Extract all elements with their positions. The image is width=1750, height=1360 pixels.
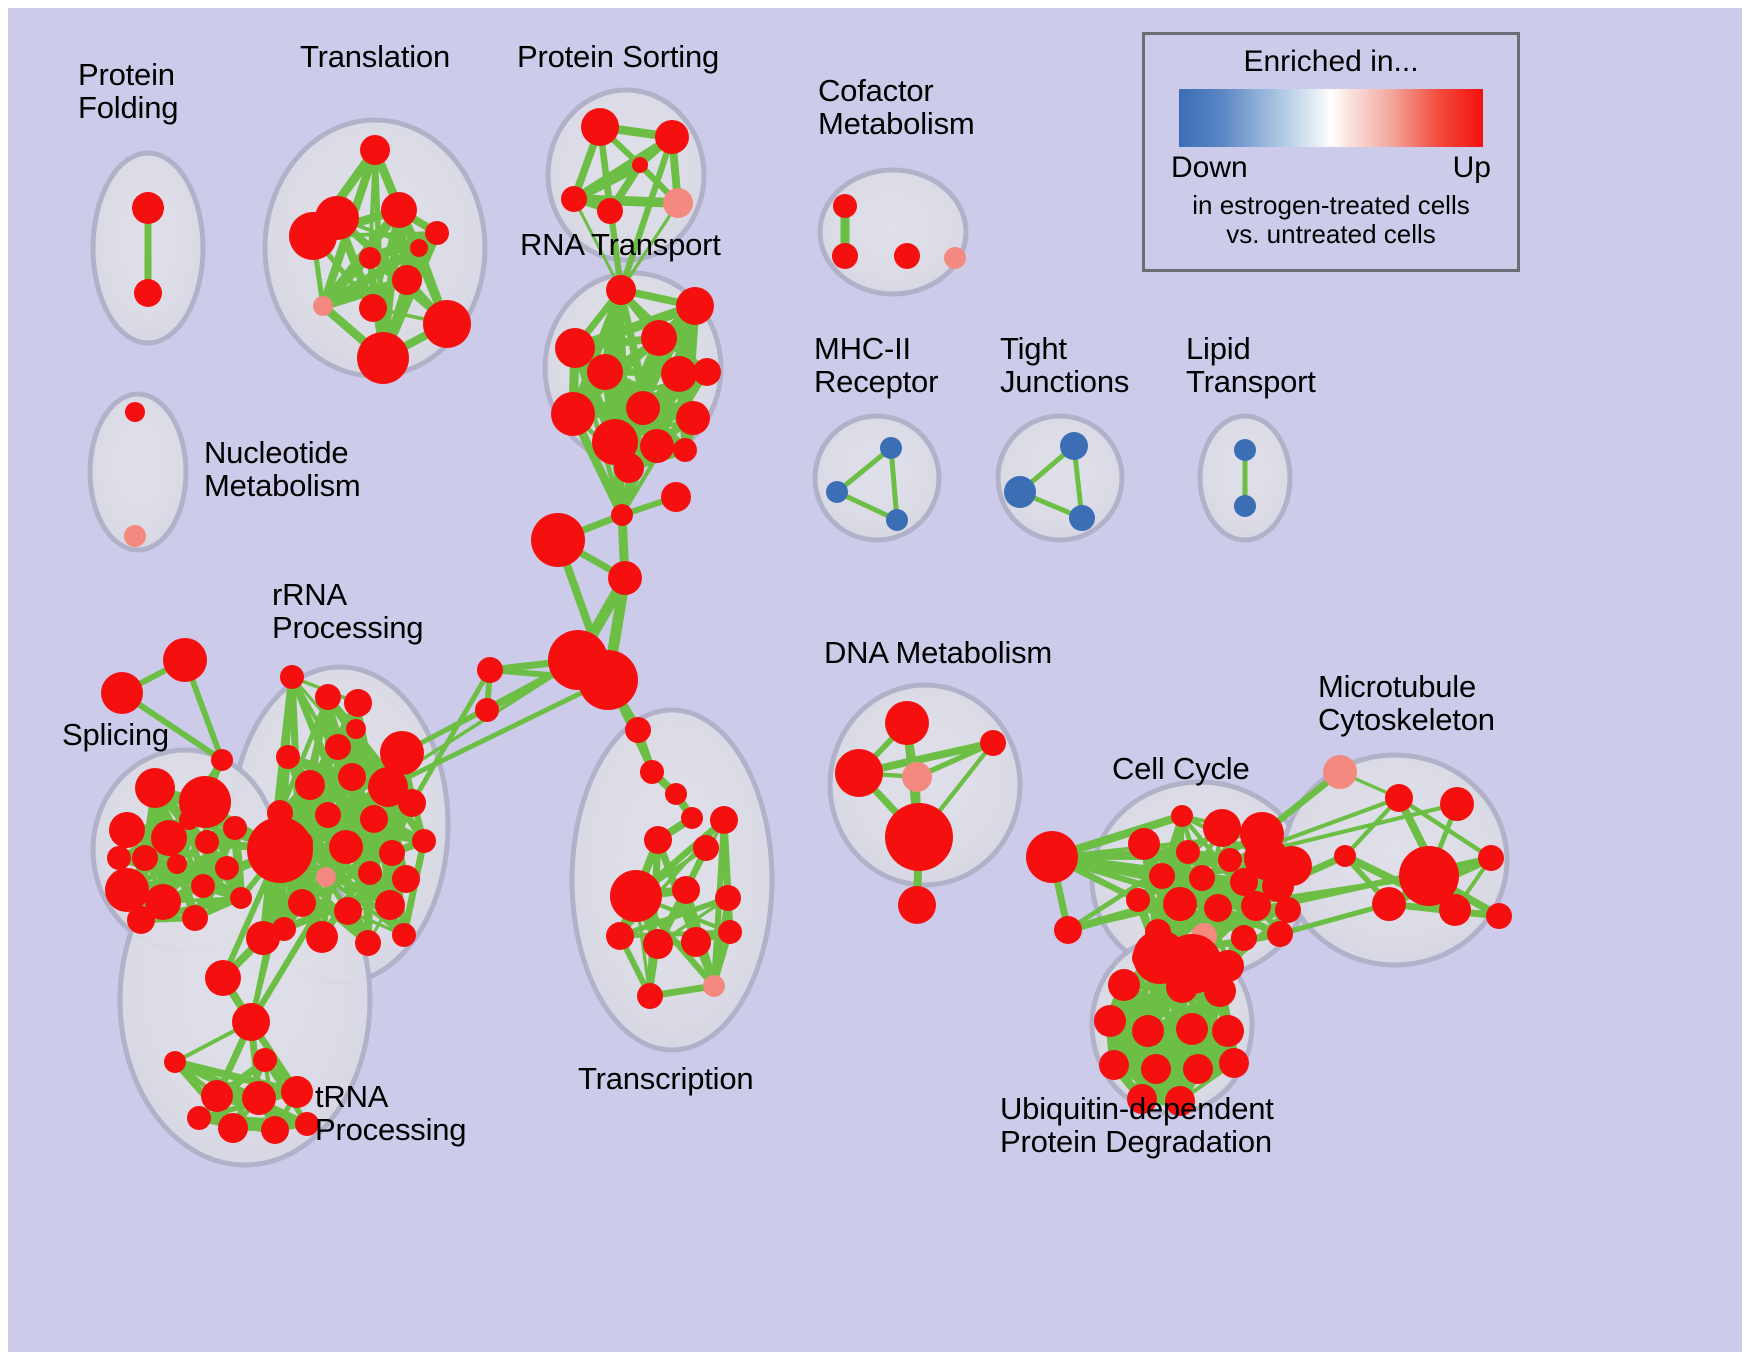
network-node	[581, 108, 619, 146]
network-node	[531, 513, 585, 567]
network-node	[632, 157, 648, 173]
network-node	[134, 279, 162, 307]
network-node	[1171, 805, 1193, 827]
network-node	[673, 438, 697, 462]
network-node	[360, 805, 388, 833]
network-node	[316, 867, 336, 887]
network-node	[242, 1081, 276, 1115]
network-node	[101, 672, 143, 714]
network-node	[703, 975, 725, 997]
figure-canvas: Protein FoldingTranslationProtein Sortin…	[0, 0, 1750, 1360]
legend-subtitle-line1: in estrogen-treated cells	[1165, 191, 1497, 220]
network-node	[201, 1080, 233, 1112]
network-node	[191, 874, 215, 898]
network-node	[109, 812, 145, 848]
network-node	[625, 717, 651, 743]
network-node	[289, 212, 337, 260]
network-node	[555, 328, 595, 368]
network-node	[1439, 894, 1471, 926]
cluster-label-rna-transport: RNA Transport	[520, 228, 721, 261]
network-node	[127, 906, 155, 934]
cluster-label-trna-processing: tRNA Processing	[315, 1080, 466, 1147]
network-node	[626, 391, 660, 425]
network-node	[606, 922, 634, 950]
network-node	[379, 840, 405, 866]
network-node	[179, 810, 199, 830]
network-node	[606, 275, 636, 305]
network-node	[276, 745, 300, 769]
cluster-label-cell-cycle: Cell Cycle	[1112, 752, 1250, 785]
network-node	[1060, 432, 1088, 460]
network-node	[230, 887, 252, 909]
network-node	[661, 356, 697, 392]
cluster-label-protein-sorting: Protein Sorting	[517, 40, 719, 73]
network-node	[1126, 888, 1150, 912]
network-node	[1204, 894, 1232, 922]
network-node	[1189, 865, 1215, 891]
network-node	[195, 830, 219, 854]
network-node	[1176, 840, 1200, 864]
network-node	[1141, 1054, 1171, 1084]
network-node	[253, 1048, 277, 1072]
network-node	[381, 192, 417, 228]
network-node	[398, 789, 426, 817]
network-node	[164, 1051, 186, 1073]
network-node	[1204, 975, 1236, 1007]
network-node	[360, 135, 390, 165]
network-node	[676, 401, 710, 435]
network-node	[1054, 916, 1082, 944]
network-node	[218, 1113, 248, 1143]
network-node	[346, 719, 366, 739]
network-node	[329, 830, 363, 864]
network-node	[980, 730, 1006, 756]
network-node	[898, 886, 936, 924]
network-node	[355, 930, 381, 956]
legend-title: Enriched in...	[1165, 45, 1497, 79]
network-node	[132, 845, 158, 871]
network-edge	[574, 199, 678, 203]
network-node	[357, 332, 409, 384]
network-node	[1026, 831, 1078, 883]
network-node	[1132, 1015, 1164, 1047]
cluster-label-dna-metabolism: DNA Metabolism	[824, 636, 1052, 669]
network-node	[551, 392, 595, 436]
network-node	[665, 783, 687, 805]
network-node	[1267, 921, 1293, 947]
network-node	[215, 856, 239, 880]
network-node	[1440, 787, 1474, 821]
network-node	[661, 482, 691, 512]
network-node	[578, 650, 638, 710]
network-node	[640, 760, 664, 784]
network-node	[681, 927, 711, 957]
network-node	[718, 920, 742, 944]
network-node	[1478, 845, 1504, 871]
network-node	[880, 437, 902, 459]
network-node	[107, 846, 131, 870]
network-node	[693, 835, 719, 861]
cluster-label-transcription: Transcription	[578, 1062, 753, 1095]
network-node	[334, 897, 362, 925]
legend-box: Enriched in... Down Up in estrogen-treat…	[1142, 32, 1520, 272]
network-node	[315, 684, 341, 710]
network-node	[1234, 439, 1256, 461]
network-node	[1176, 1013, 1208, 1045]
network-node	[1234, 495, 1256, 517]
network-node	[1372, 887, 1406, 921]
network-node	[338, 763, 366, 791]
legend-high-label: Up	[1453, 151, 1491, 185]
network-node	[211, 749, 233, 771]
network-node	[902, 762, 932, 792]
network-node	[132, 192, 164, 224]
network-node	[325, 734, 351, 760]
network-node	[597, 198, 623, 224]
network-node	[187, 1106, 211, 1130]
network-node	[359, 247, 381, 269]
network-node	[643, 929, 673, 959]
network-node	[232, 1003, 270, 1041]
cluster-label-protein-folding: Protein Folding	[78, 58, 178, 125]
legend-colorbar	[1179, 89, 1483, 147]
network-node	[1094, 1005, 1126, 1037]
network-node	[280, 665, 304, 689]
network-node	[1241, 891, 1271, 921]
network-node	[1149, 863, 1175, 889]
network-node	[1004, 476, 1036, 508]
network-node	[1128, 828, 1160, 860]
network-node	[410, 239, 428, 257]
cluster-label-cofactor: Cofactor Metabolism	[818, 74, 975, 141]
network-node	[375, 890, 405, 920]
network-node	[392, 865, 420, 893]
network-node	[681, 807, 703, 829]
network-node	[359, 294, 387, 322]
network-node	[886, 509, 908, 531]
network-node	[182, 905, 208, 931]
legend-low-label: Down	[1171, 151, 1248, 185]
cluster-hull-mhc-ii	[815, 416, 939, 540]
network-node	[163, 638, 207, 682]
cluster-label-rrna-processing: rRNA Processing	[272, 578, 423, 645]
network-node	[610, 870, 662, 922]
network-node	[167, 854, 187, 874]
network-node	[944, 247, 966, 269]
network-node	[261, 1116, 289, 1144]
network-node	[885, 803, 953, 871]
network-node	[124, 525, 146, 547]
network-node	[295, 770, 325, 800]
network-node	[655, 120, 689, 154]
network-node	[1275, 897, 1301, 923]
network-node	[392, 265, 422, 295]
network-node	[358, 861, 382, 885]
network-node	[477, 657, 503, 683]
network-node	[1334, 845, 1356, 867]
network-node	[833, 194, 857, 218]
legend-subtitle-line2: vs. untreated cells	[1165, 220, 1497, 249]
network-node	[641, 320, 677, 356]
network-node	[425, 221, 449, 245]
network-node	[1323, 755, 1357, 789]
cluster-label-tight-junctions: Tight Junctions	[1000, 332, 1129, 399]
network-node	[614, 453, 644, 483]
network-node	[1219, 1048, 1249, 1078]
network-node	[223, 816, 247, 840]
network-node	[1108, 969, 1140, 1001]
network-node	[894, 243, 920, 269]
cluster-label-mhc-ii: MHC-II Receptor	[814, 332, 938, 399]
network-node	[826, 481, 848, 503]
network-node	[281, 1076, 313, 1108]
network-node	[392, 923, 416, 947]
network-node	[885, 701, 929, 745]
network-node	[611, 504, 633, 526]
network-node	[315, 802, 341, 828]
network-node	[306, 921, 338, 953]
cluster-label-translation: Translation	[300, 40, 450, 73]
network-node	[105, 868, 149, 912]
cluster-label-lipid-transport: Lipid Transport	[1186, 332, 1316, 399]
network-node	[247, 817, 313, 883]
cluster-label-splicing: Splicing	[62, 718, 169, 751]
network-node	[1212, 1015, 1244, 1047]
network-node	[1183, 1054, 1213, 1084]
network-node	[693, 358, 721, 386]
network-node	[125, 402, 145, 422]
network-node	[637, 983, 663, 1009]
network-node	[475, 698, 499, 722]
network-node	[644, 826, 672, 854]
network-node	[715, 885, 741, 911]
network-node	[835, 749, 883, 797]
network-node	[1069, 505, 1095, 531]
network-node	[561, 186, 587, 212]
cluster-label-microtubule: Microtubule Cytoskeleton	[1318, 670, 1495, 737]
network-node	[640, 429, 674, 463]
network-node	[1163, 887, 1197, 921]
network-node	[663, 188, 693, 218]
network-node	[313, 296, 333, 316]
network-node	[587, 354, 623, 390]
network-node	[423, 300, 471, 348]
cluster-label-nucleotide: Nucleotide Metabolism	[204, 436, 361, 503]
network-node	[1486, 903, 1512, 929]
network-node	[832, 243, 858, 269]
network-node	[205, 960, 241, 996]
network-node	[1099, 1050, 1129, 1080]
network-node	[710, 806, 738, 834]
network-node	[672, 876, 700, 904]
network-node	[344, 689, 372, 717]
network-node	[1231, 925, 1257, 951]
network-node	[608, 561, 642, 595]
network-node	[1166, 971, 1198, 1003]
network-node	[1218, 848, 1242, 872]
network-node	[246, 921, 280, 955]
network-node	[1385, 784, 1413, 812]
network-node	[1203, 809, 1241, 847]
network-node	[412, 829, 436, 853]
cluster-label-ubiquitin: Ubiquitin-dependent Protein Degradation	[1000, 1092, 1274, 1159]
network-node	[288, 889, 316, 917]
network-node	[676, 287, 714, 325]
network-node	[135, 768, 175, 808]
